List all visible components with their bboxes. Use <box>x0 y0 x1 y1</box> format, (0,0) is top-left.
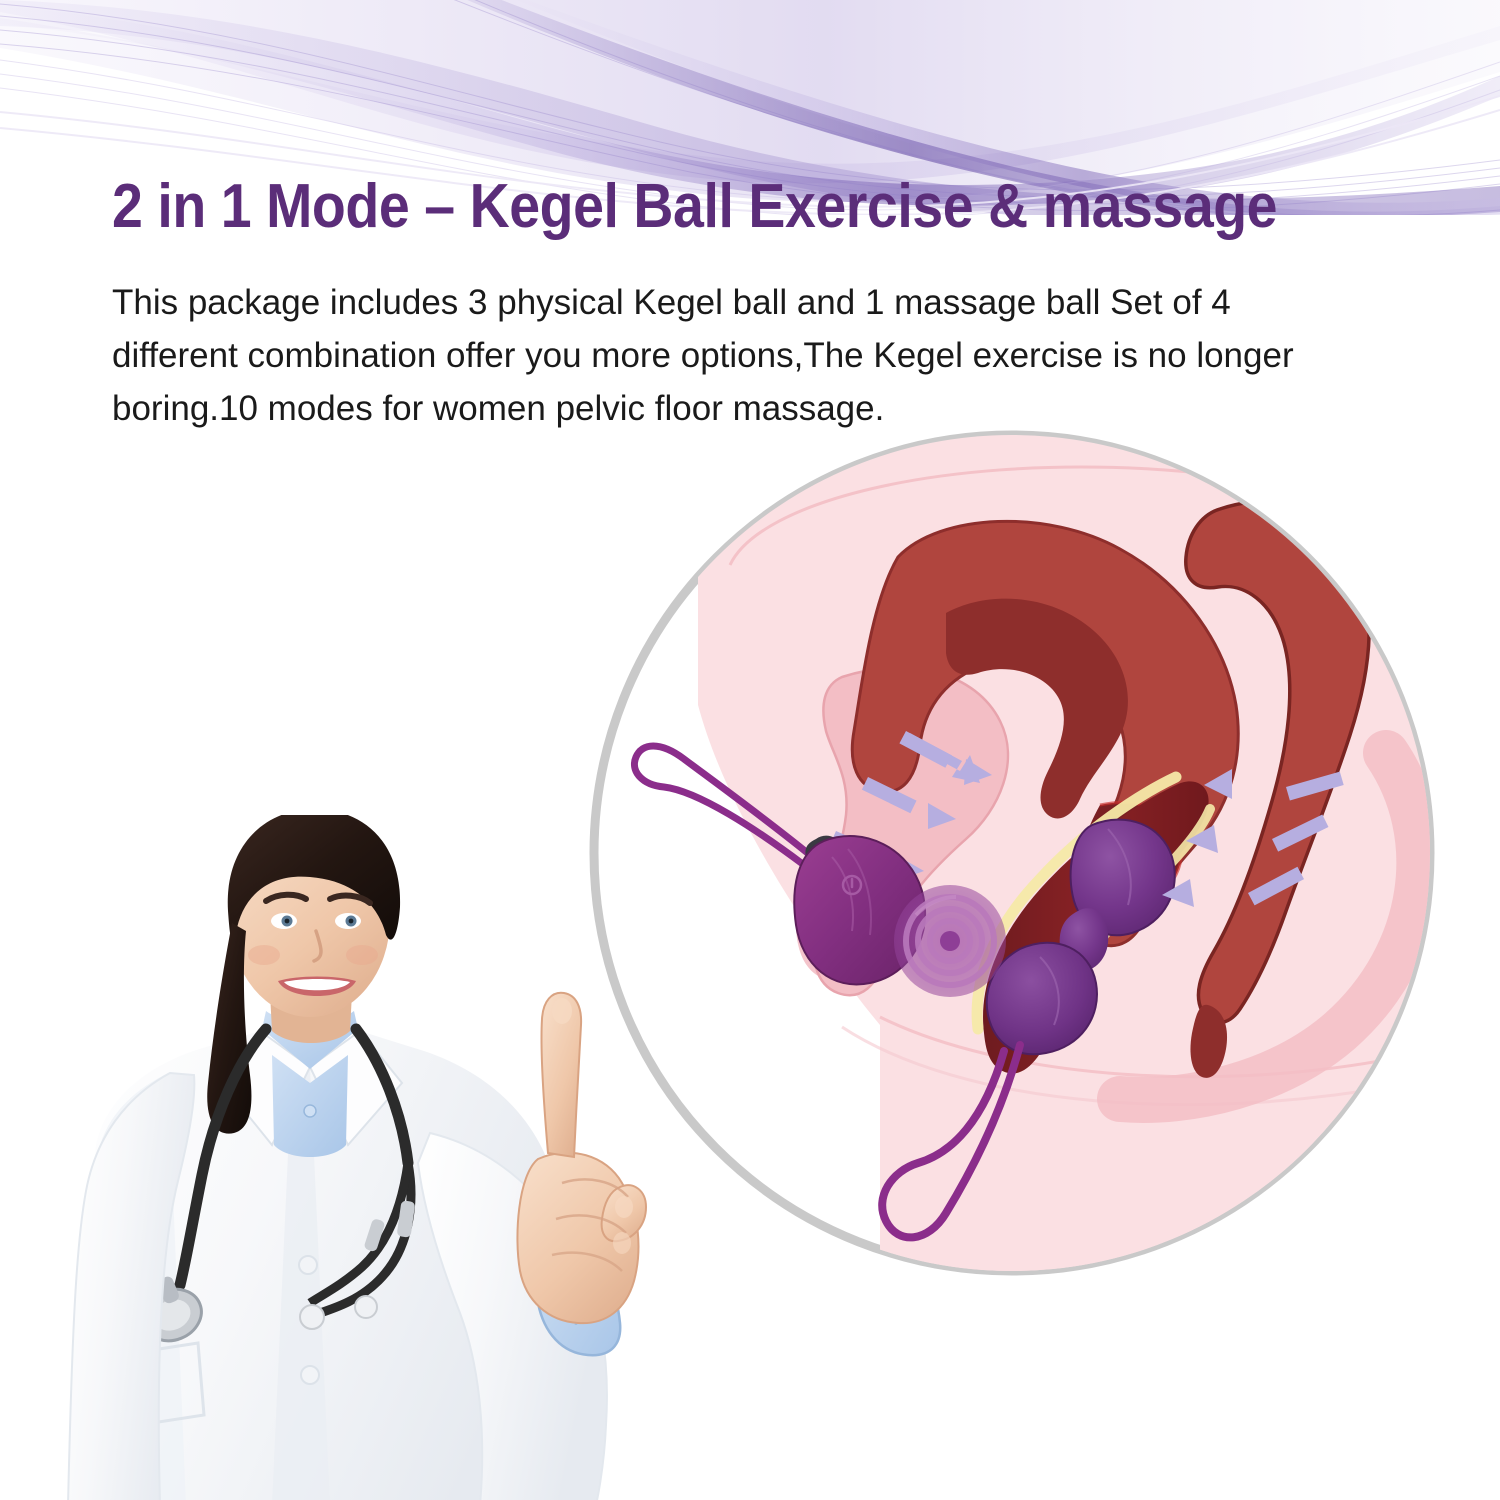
coat-button <box>299 1256 317 1274</box>
page-title: 2 in 1 Mode – Kegel Ball Exercise & mass… <box>112 172 1302 242</box>
pelvic-anatomy-illustration <box>580 405 1450 1305</box>
coat-button <box>301 1366 319 1384</box>
external-massage-disc <box>894 885 1006 997</box>
doctor-photo <box>10 815 700 1500</box>
fingernail <box>552 998 572 1024</box>
product-infographic-page: 2 in 1 Mode – Kegel Ball Exercise & mass… <box>0 0 1500 1500</box>
